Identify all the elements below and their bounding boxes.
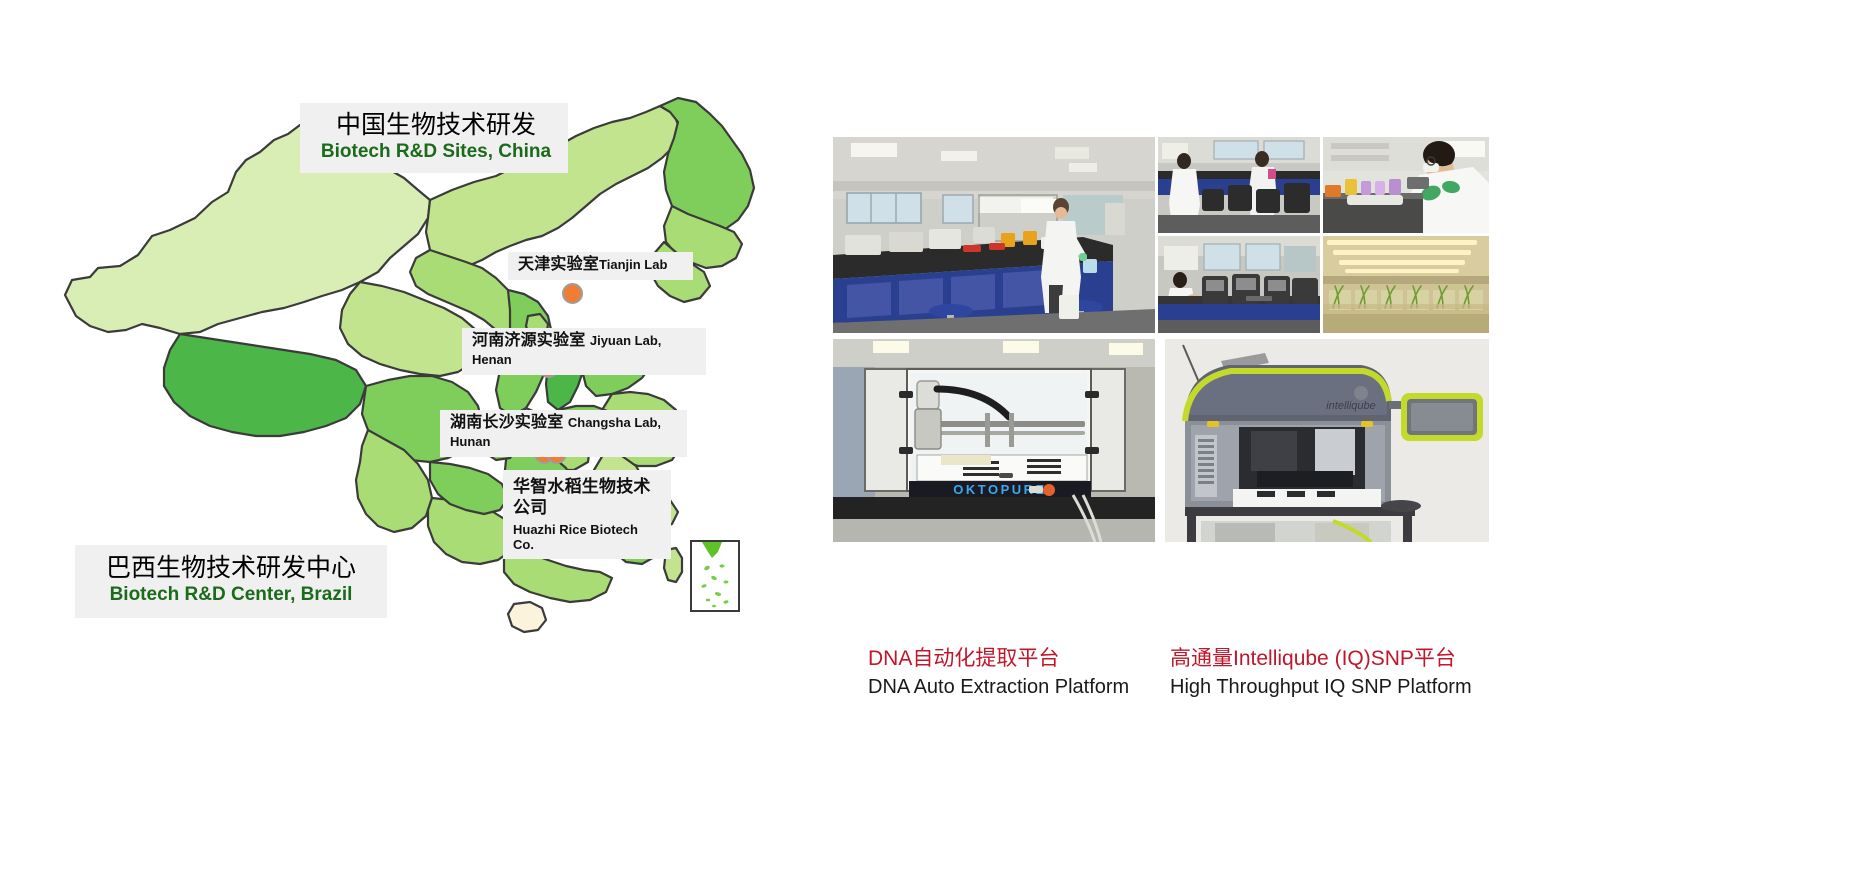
map-label-changsha-cn: 湖南长沙实验室 (450, 414, 563, 431)
province-hainan (508, 602, 546, 632)
map-title-cn: 中国生物技术研发 (316, 110, 556, 140)
province-tibet (164, 334, 366, 436)
map-label-huazhi[interactable]: 华智水稻生物技术公司 Huazhi Rice Biotech Co. (503, 470, 671, 559)
photo-collage-panel: OKTOPURE (833, 137, 1493, 547)
map-label-jiyuan-cn: 河南济源实验室 (472, 332, 585, 349)
china-map-panel: 中国生物技术研发 Biotech R&D Sites, China 天津实验室 … (0, 0, 960, 894)
caption-intelliqube-cn: 高通量Intelliqube (IQ)SNP平台 (1170, 645, 1472, 672)
instrument-operation-photo (1158, 236, 1320, 333)
caption-intelliqube-platform: 高通量Intelliqube (IQ)SNP平台 High Throughput… (1170, 645, 1472, 700)
caption-dna-cn: DNA自动化提取平台 (868, 645, 1129, 672)
caption-intelliqube-en: High Throughput IQ SNP Platform (1170, 674, 1472, 700)
caption-dna-platform: DNA自动化提取平台 DNA Auto Extraction Platform (868, 645, 1129, 700)
brazil-card: 巴西生物技术研发中心 Biotech R&D Center, Brazil (75, 545, 387, 618)
map-label-changsha[interactable]: 湖南长沙实验室 Changsha Lab, Hunan (440, 410, 687, 457)
intelliqube-snp-instrument-photo: intelliqube (1165, 339, 1489, 542)
map-title-card: 中国生物技术研发 Biotech R&D Sites, China (300, 103, 568, 173)
map-label-tianjin-en: Tianjin Lab (599, 257, 667, 272)
map-label-tianjin[interactable]: 天津实验室 Tianjin Lab (508, 252, 693, 280)
lab-technicians-photo (1158, 137, 1320, 233)
oktopure-dna-extraction-robot-photo: OKTOPURE (833, 339, 1155, 542)
map-label-huazhi-cn: 华智水稻生物技术公司 (513, 476, 661, 519)
site-marker-tianjin[interactable] (562, 283, 583, 304)
caption-dna-en: DNA Auto Extraction Platform (868, 674, 1129, 700)
lab-bench-overview-photo (833, 137, 1155, 333)
south-china-sea-inset (690, 540, 740, 612)
plant-tissue-culture-photo (1323, 236, 1489, 333)
brazil-card-cn: 巴西生物技术研发中心 (85, 553, 377, 583)
sea-inset-graphic (692, 542, 738, 610)
map-label-jiyuan[interactable]: 河南济源实验室 Jiyuan Lab, Henan (462, 328, 706, 375)
map-label-tianjin-cn: 天津实验室 (518, 256, 599, 273)
intelliqube-brand-text: intelliqube (1326, 400, 1376, 412)
map-label-huazhi-en: Huazhi Rice Biotech Co. (513, 522, 661, 553)
pipetting-researcher-photo (1323, 137, 1489, 233)
map-title-en: Biotech R&D Sites, China (316, 140, 556, 164)
brazil-card-en: Biotech R&D Center, Brazil (85, 583, 377, 608)
